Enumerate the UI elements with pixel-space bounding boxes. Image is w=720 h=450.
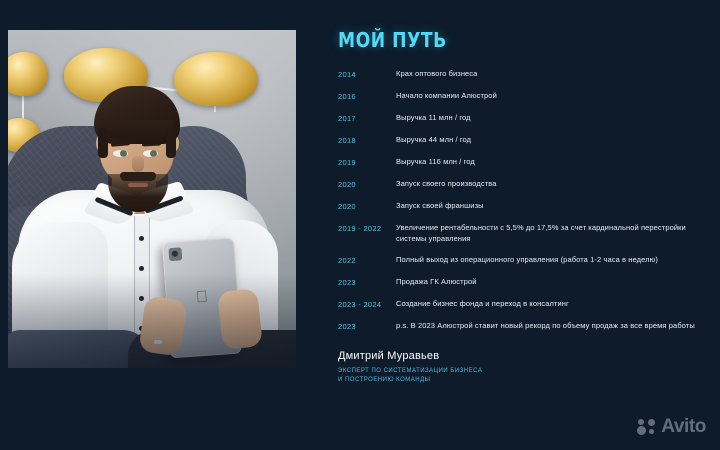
person-sideburn [98, 128, 108, 158]
author-name: Дмитрий Муравьев [338, 350, 710, 362]
timeline-list: 2014 Крах оптового бизнеса 2016 Начало к… [338, 68, 710, 332]
timeline-row: 2018 Выручка 44 млн / год [338, 134, 710, 146]
avito-watermark: Avito [637, 417, 706, 436]
timeline-row: 2023 p.s. В 2023 Алюстрой ставит новый р… [338, 320, 710, 332]
timeline-year: 2022 [338, 254, 396, 266]
timeline-row: 2019 Выручка 116 млн / год [338, 156, 710, 168]
iris [120, 150, 127, 157]
gold-pendant-lamp [8, 52, 48, 96]
timeline-text: Продажа ГК Алюстрой [396, 276, 710, 287]
person-nose [132, 156, 144, 172]
timeline-year: 2019 [338, 156, 396, 168]
timeline-row: 2023 Продажа ГК Алюстрой [338, 276, 710, 288]
timeline-row: 2022 Полный выход из операционного управ… [338, 254, 710, 266]
slide-root:  МОЙ ПУТЬ 2014 Крах оптового бизнеса 20… [0, 0, 720, 450]
avito-dot-small [638, 419, 644, 425]
timeline-text: Запуск своей франшизы [396, 200, 710, 211]
gold-pendant-lamp [174, 52, 258, 106]
timeline-text: Создание бизнес фонда и переход в консал… [396, 298, 710, 309]
timeline-year: 2020 [338, 178, 396, 190]
person-mouth [128, 183, 148, 187]
person-eye-left [113, 150, 128, 157]
person-hair-fringe [104, 120, 174, 140]
timeline-year: 2020 [338, 200, 396, 212]
avito-wordmark: Avito [661, 417, 706, 436]
timeline-year: 2016 [338, 90, 396, 102]
timeline-text: Выручка 116 млн / год [396, 156, 710, 167]
timeline-text: Запуск своего производства [396, 178, 710, 189]
timeline-row: 2020 Запуск своего производства [338, 178, 710, 190]
avito-dots-icon [637, 417, 656, 436]
shirt-button [139, 236, 144, 241]
portrait-photo:  [8, 30, 296, 368]
timeline-text: p.s. В 2023 Алюстрой ставит новый рекорд… [396, 320, 710, 331]
timeline-text: Крах оптового бизнеса [396, 68, 710, 79]
signature-block: Дмитрий Муравьев ЭКСПЕРТ ПО СИСТЕМАТИЗАЦ… [338, 350, 710, 385]
person-hand-right [217, 288, 263, 350]
timeline-text: Начало компании Алюстрой [396, 90, 710, 101]
person-hand-left [138, 295, 187, 356]
shirt-button [139, 296, 144, 301]
shirt-button [139, 266, 144, 271]
timeline-year: 2018 [338, 134, 396, 146]
timeline-year: 2023 [338, 276, 396, 288]
avito-dot-large [637, 426, 646, 435]
avito-dot-tiny [649, 429, 654, 434]
timeline-text: Выручка 11 млн / год [396, 112, 710, 123]
timeline-row: 2020 Запуск своей франшизы [338, 200, 710, 212]
timeline-year: 2023 - 2024 [338, 298, 396, 310]
timeline-text: Увеличение рентабельности с 5,5% до 17,5… [396, 222, 710, 244]
person-moustache [120, 172, 156, 181]
timeline-year: 2019 - 2022 [338, 222, 396, 234]
timeline-row: 2014 Крах оптового бизнеса [338, 68, 710, 80]
timeline-text: Полный выход из операционного управления… [396, 254, 710, 265]
avito-dot-medium [648, 419, 655, 426]
timeline-row: 2016 Начало компании Алюстрой [338, 90, 710, 102]
timeline-year: 2014 [338, 68, 396, 80]
iris [150, 150, 157, 157]
timeline-text: Выручка 44 млн / год [396, 134, 710, 145]
content-column: МОЙ ПУТЬ 2014 Крах оптового бизнеса 2016… [338, 28, 710, 385]
author-role-line-2: И ПОСТРОЕНИЮ КОМАНДЫ [338, 376, 710, 385]
timeline-row: 2019 - 2022 Увеличение рентабельности с … [338, 222, 710, 244]
page-title: МОЙ ПУТЬ [338, 28, 658, 52]
person-sideburn [166, 128, 176, 158]
finger-ring [154, 340, 162, 344]
timeline-row: 2017 Выручка 11 млн / год [338, 112, 710, 124]
timeline-year: 2017 [338, 112, 396, 124]
timeline-year: 2023 [338, 320, 396, 332]
person-eye-right [143, 150, 158, 157]
apple-logo-icon:  [195, 289, 210, 306]
timeline-row: 2023 - 2024 Создание бизнес фонда и пере… [338, 298, 710, 310]
photo-scene:  [8, 30, 296, 368]
author-role-line-1: ЭКСПЕРТ ПО СИСТЕМАТИЗАЦИИ БИЗНЕСА [338, 367, 710, 376]
